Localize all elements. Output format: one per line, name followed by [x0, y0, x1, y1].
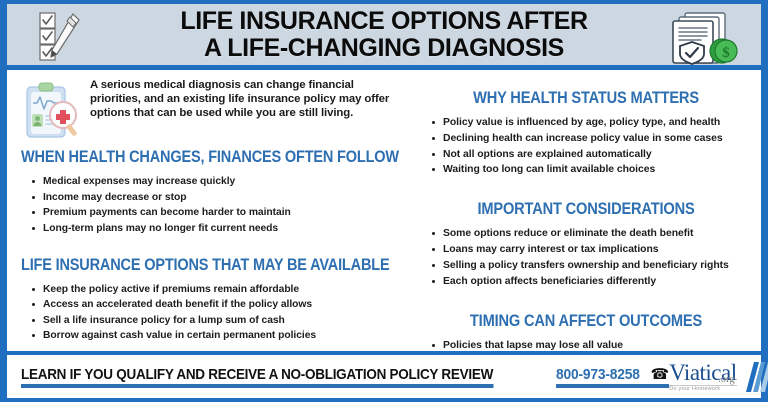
list-item: Medical expenses may increase quickly [43, 174, 403, 190]
list-item: Borrow against cash value in certain per… [43, 328, 403, 344]
section-life-insurance-options: LIFE INSURANCE OPTIONS THAT MAY BE AVAIL… [21, 256, 403, 345]
list-item: Sell a life insurance policy for a lump … [43, 313, 403, 329]
medical-clipboard-icon [21, 81, 83, 139]
footer-bar: LEARN IF YOU QUALIFY AND RECEIVE A NO-OB… [7, 351, 761, 398]
left-column: A serious medical diagnosis can change f… [7, 70, 413, 339]
list-item: Long-term plans may no longer fit curren… [43, 221, 403, 237]
phone-number[interactable]: 800-973-8258 [556, 366, 640, 383]
logo-org: .org [718, 375, 734, 386]
list-item: Loans may carry interest or tax implicat… [443, 242, 749, 258]
right-column: WHY HEALTH STATUS MATTERS Policy value i… [413, 70, 761, 339]
list-item: Income may decrease or stop [43, 190, 403, 206]
section-when-health-changes: WHEN HEALTH CHANGES, FINANCES OFTEN FOLL… [21, 148, 403, 237]
page-title: LIFE INSURANCE OPTIONS AFTER A LIFE-CHAN… [94, 8, 673, 61]
section-heading: TIMING CAN AFFECT OUTCOMES [446, 311, 726, 331]
logo-tagline: Do your Homework [669, 385, 736, 393]
bullet-list: Policy value is influenced by age, polic… [423, 115, 749, 178]
list-item: Keep the policy active if premiums remai… [43, 282, 403, 298]
checklist-pen-icon [29, 10, 107, 64]
bullet-list: Keep the policy active if premiums remai… [21, 282, 403, 345]
list-item: Some options reduce or eliminate the dea… [443, 226, 749, 242]
section-heading: LIFE INSURANCE OPTIONS THAT MAY BE AVAIL… [21, 256, 357, 275]
list-item: Not all options are explained automatica… [443, 147, 749, 163]
phone-block[interactable]: 800-973-8258 ☎ [556, 366, 670, 388]
logo-slashes-icon [738, 361, 768, 393]
viatical-logo[interactable]: Viatical .org Do your Homework [669, 361, 768, 393]
list-item: Policy value is influenced by age, polic… [443, 115, 749, 131]
infographic-root: LIFE INSURANCE OPTIONS AFTER A LIFE-CHAN… [0, 0, 768, 402]
intro-paragraph: A serious medical diagnosis can change f… [90, 79, 403, 121]
section-heading: WHY HEALTH STATUS MATTERS [446, 88, 726, 108]
cta-text: LEARN IF YOU QUALIFY AND RECEIVE A NO-OB… [21, 366, 493, 388]
list-item: Each option affects beneficiaries differ… [443, 274, 749, 290]
telephone-icon: ☎ [651, 367, 670, 382]
section-heading: WHEN HEALTH CHANGES, FINANCES OFTEN FOLL… [21, 148, 357, 167]
content-columns: A serious medical diagnosis can change f… [7, 70, 761, 339]
svg-text:$: $ [722, 45, 730, 61]
title-line-2: A LIFE-CHANGING DIAGNOSIS [180, 35, 587, 61]
header-banner: LIFE INSURANCE OPTIONS AFTER A LIFE-CHAN… [7, 4, 761, 70]
bullet-list: Medical expenses may increase quickly In… [21, 174, 403, 237]
section-why-health-status-matters: WHY HEALTH STATUS MATTERS Policy value i… [423, 88, 749, 178]
section-heading: IMPORTANT CONSIDERATIONS [446, 199, 726, 219]
section-important-considerations: IMPORTANT CONSIDERATIONS Some options re… [423, 199, 749, 289]
documents-shield-money-icon: $ [659, 9, 747, 65]
list-item: Access an accelerated death benefit if t… [43, 297, 403, 313]
logo-text-group: Viatical .org Do your Homework [669, 361, 736, 393]
title-line-1: LIFE INSURANCE OPTIONS AFTER [180, 8, 587, 34]
list-item: Declining health can increase policy val… [443, 131, 749, 147]
list-item: Waiting too long can limit available cho… [443, 162, 749, 178]
intro-block: A serious medical diagnosis can change f… [21, 79, 403, 139]
list-item: Selling a policy transfers ownership and… [443, 258, 749, 274]
list-item: Premium payments can become harder to ma… [43, 205, 403, 221]
bullet-list: Some options reduce or eliminate the dea… [423, 226, 749, 289]
